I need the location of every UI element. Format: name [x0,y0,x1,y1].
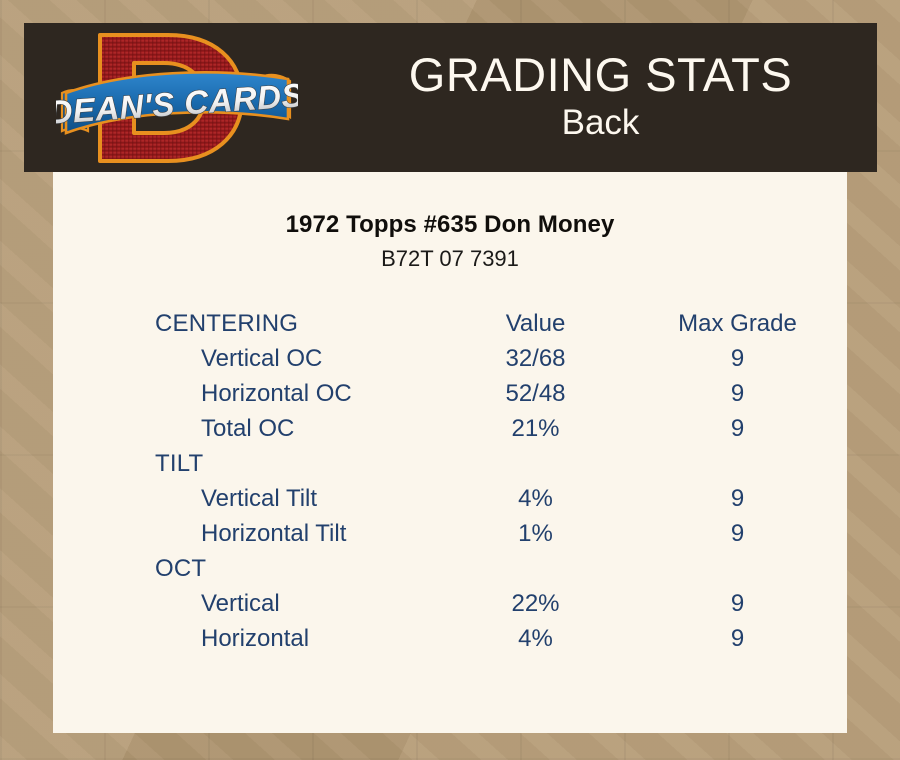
stat-label: Horizontal Tilt [53,516,443,551]
stat-value: 22% [443,586,628,621]
stat-value: 4% [443,621,628,656]
table-row: Total OC21%9 [53,411,847,446]
page-subtitle: Back [562,101,640,145]
table-header-row: CENTERING Value Max Grade [53,306,847,341]
stat-value: 52/48 [443,376,628,411]
stat-group-value-spacer [443,446,628,481]
stat-grade: 9 [628,621,847,656]
table-row: Horizontal Tilt1%9 [53,516,847,551]
stat-grade: 9 [628,411,847,446]
table-head: CENTERING Value Max Grade [53,306,847,341]
page-title: GRADING STATS [409,51,792,99]
card-title: 1972 Topps #635 Don Money [53,211,847,239]
stat-group-grade-spacer [628,446,847,481]
table-row: Vertical22%9 [53,586,847,621]
stat-label: Horizontal OC [53,376,443,411]
column-header-max-grade: Max Grade [628,306,847,341]
stat-label: Total OC [53,411,443,446]
stat-group-value-spacer [443,551,628,586]
table-body: Vertical OC32/689Horizontal OC52/489Tota… [53,341,847,656]
table-row: Vertical OC32/689 [53,341,847,376]
header-band: DEAN'S CARDS GRADING STATS Back [24,23,877,172]
header-titles: GRADING STATS Back [324,23,877,172]
stat-label: Vertical Tilt [53,481,443,516]
grading-stats-table: CENTERING Value Max Grade Vertical OC32/… [53,306,847,656]
stat-group-grade-spacer [628,551,847,586]
stat-group-row: TILT [53,446,847,481]
deans-cards-logo[interactable]: DEAN'S CARDS [56,27,298,169]
stat-grade: 9 [628,481,847,516]
stat-label: Vertical OC [53,341,443,376]
stat-grade: 9 [628,516,847,551]
table-row: Horizontal4%9 [53,621,847,656]
stat-group-label: TILT [53,446,443,481]
stat-grade: 9 [628,341,847,376]
table-row: Horizontal OC52/489 [53,376,847,411]
stat-group-row: OCT [53,551,847,586]
stat-grade: 9 [628,586,847,621]
column-header-value: Value [443,306,628,341]
stat-group-label: OCT [53,551,443,586]
column-header-group: CENTERING [53,306,443,341]
card-serial-number: B72T 07 7391 [53,246,847,272]
stat-grade: 9 [628,376,847,411]
stat-value: 1% [443,516,628,551]
stat-label: Vertical [53,586,443,621]
table-row: Vertical Tilt4%9 [53,481,847,516]
stat-value: 32/68 [443,341,628,376]
content-panel: 1972 Topps #635 Don Money B72T 07 7391 C… [53,172,847,733]
stat-value: 21% [443,411,628,446]
stat-label: Horizontal [53,621,443,656]
stat-value: 4% [443,481,628,516]
